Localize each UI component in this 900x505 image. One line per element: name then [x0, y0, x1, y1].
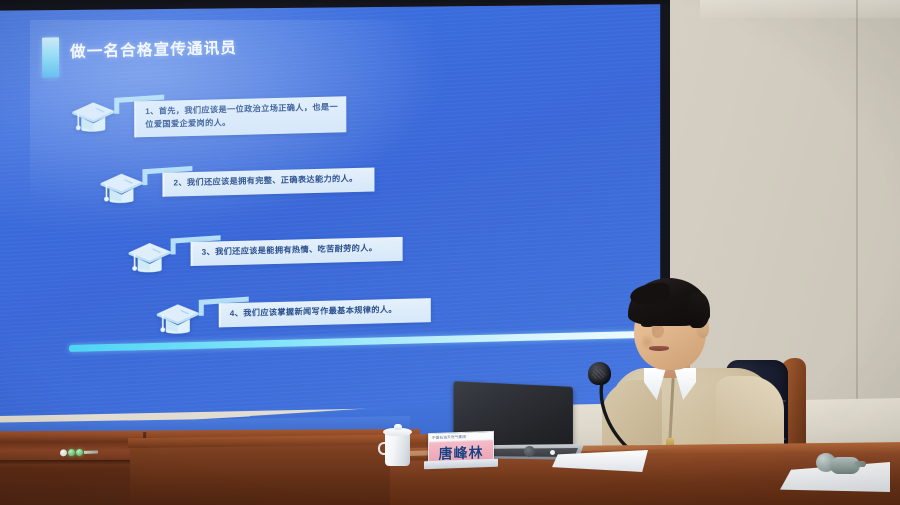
- person-mouth: [649, 346, 669, 351]
- slide-bullet-row-2: 2、我们还应该是拥有完整、正确表达能力的人。: [28, 149, 628, 224]
- slide-bullet-row-1: 1、首先，我们应该是一位政治立场正确人，也是一位爱国爱企爱岗的人。: [28, 77, 628, 152]
- tea-cup-body: [385, 432, 410, 466]
- laptop-indicator: [550, 450, 555, 455]
- name-placard-org: 中国石油天然气集团: [432, 435, 466, 441]
- conference-room-scene: 做一名合格宣传通讯员 1、首先，我们应该是一: [0, 0, 900, 505]
- microphone-head: [588, 362, 611, 385]
- slide-bullet-text-1: 1、首先，我们应该是一位政治立场正确人，也是一位爱国爱企爱岗的人。: [145, 101, 338, 131]
- led-green-2: [76, 448, 83, 455]
- slide-bullet-textbox-4: 4、我们应该掌握新闻写作最基本规律的人。: [219, 298, 431, 327]
- slide-bullet-text-3: 3、我们还应该是能拥有热情、吃苦耐劳的人。: [202, 242, 395, 259]
- tea-cup-lid-knob: [394, 424, 402, 430]
- person-hair-side: [688, 292, 710, 328]
- graduation-cap-icon: [96, 167, 146, 210]
- tea-cup: [383, 424, 413, 466]
- desk-indicator-leds: [60, 448, 98, 457]
- led-white: [60, 449, 67, 456]
- presentation-slide: 做一名合格宣传通讯员 1、首先，我们应该是一: [28, 0, 659, 404]
- slide-bullet-text-2: 2、我们还应该是拥有完整、正确表达能力的人。: [173, 173, 366, 190]
- slide-title-accent-bar: [42, 37, 59, 77]
- grey-handheld-device: [816, 452, 864, 482]
- name-placard: 中国石油天然气集团 唐峰林: [428, 431, 494, 467]
- laptop-port: [524, 446, 535, 457]
- led-green-1: [68, 449, 75, 456]
- led-stem: [84, 450, 98, 453]
- wall-upper-band: [700, 0, 900, 18]
- graduation-cap-icon: [125, 236, 175, 279]
- slide-title: 做一名合格宣传通讯员: [70, 36, 237, 62]
- slide-bullet-textbox-2: 2、我们还应该是拥有完整、正确表达能力的人。: [162, 168, 374, 197]
- grey-device-tail: [854, 461, 866, 467]
- slide-bullet-textbox-3: 3、我们还应该是能拥有热情、吃苦耐劳的人。: [191, 237, 403, 266]
- graduation-cap-icon: [153, 298, 203, 341]
- slide-bullet-text-4: 4、我们应该掌握新闻写作最基本规律的人。: [230, 303, 423, 320]
- slide-bullet-textbox-1: 1、首先，我们应该是一位政治立场正确人，也是一位爱国爱企爱岗的人。: [134, 96, 346, 137]
- graduation-cap-icon: [68, 96, 118, 139]
